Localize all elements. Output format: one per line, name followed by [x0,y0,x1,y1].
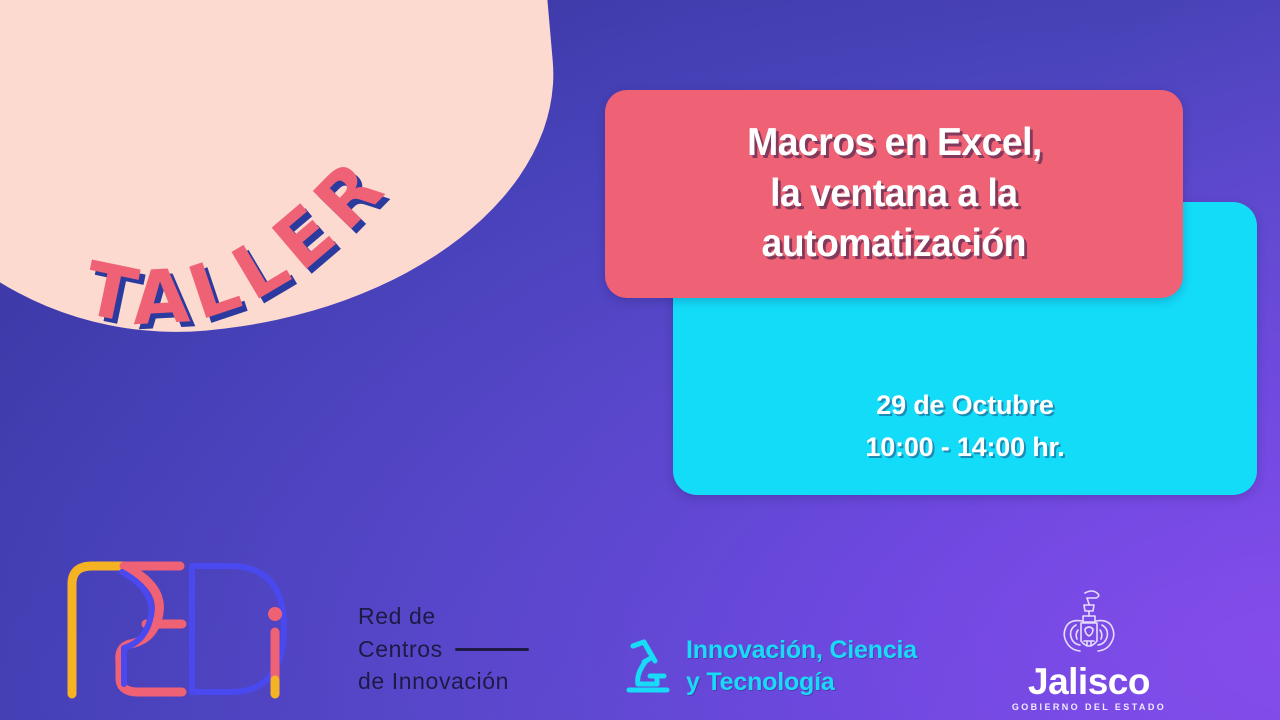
taller-main-text: TALLER [77,139,406,342]
title-line-2: la ventana a la [770,169,1017,220]
ict-line-1: Innovación, Ciencia [686,634,917,666]
redi-word-line-2: Centros [358,633,443,666]
jalisco-coat-of-arms-icon [1054,589,1124,665]
svg-text:TALLER: TALLER [77,139,406,342]
title-line-1: Macros en Excel, [747,118,1042,169]
event-date: 29 de Octubre [876,385,1053,427]
taller-badge-text: TALLER TALLER [50,60,490,320]
redi-wordmark: Red de Centros de Innovación [358,600,529,698]
redi-logo-mark [62,552,302,702]
jalisco-subtitle: GOBIERNO DEL ESTADO [1000,702,1178,712]
redi-stroke-coral-body [120,568,182,692]
event-time: 10:00 - 14:00 hr. [865,427,1064,469]
redi-stroke-blue-d [192,566,284,692]
redi-word-line-1: Red de [358,600,436,633]
title-card: Macros en Excel, la ventana a la automat… [605,90,1183,298]
ict-line-2: y Tecnología [686,666,917,698]
ict-logo: Innovación, Ciencia y Tecnología [624,634,917,698]
title-line-3: automatización [762,219,1026,270]
footer-logo-bar: Red de Centros de Innovación [0,530,1280,720]
microscope-icon [624,636,672,696]
event-info-cluster: 29 de Octubre 10:00 - 14:00 hr. Macros e… [605,90,1265,410]
redi-divider-rule [455,648,529,651]
event-poster: TALLER TALLER 29 de Octubre 10:00 - 14:0… [0,0,1280,720]
jalisco-logo: Jalisco GOBIERNO DEL ESTADO [1000,589,1178,712]
redi-word-line-3: de Innovación [358,665,509,698]
jalisco-wordmark: Jalisco [1000,663,1178,701]
redi-i-dot [268,607,282,621]
redi-stroke-blue-r [122,572,151,684]
